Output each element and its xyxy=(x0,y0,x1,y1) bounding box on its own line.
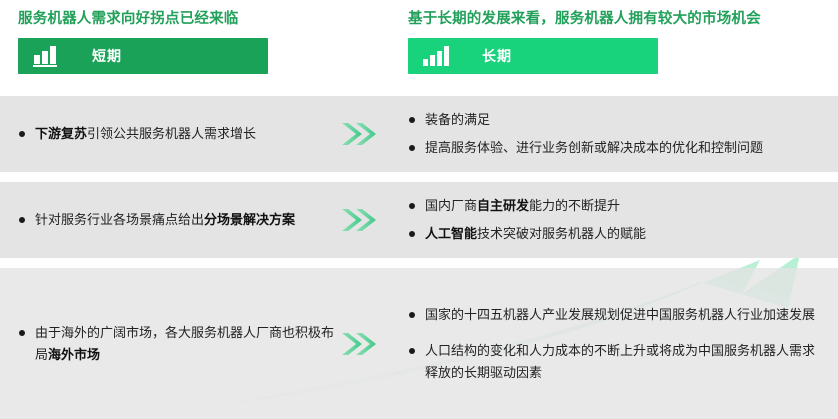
column-header-short: 服务机器人需求向好拐点已经来临 短期 xyxy=(18,0,390,74)
double-chevron-right-icon xyxy=(340,207,380,233)
row-left-cell: 由于海外的广阔市场，各大服务机器人厂商也积极布局海外市场 xyxy=(18,268,336,419)
double-chevron-right-icon xyxy=(340,331,380,357)
body-text: 人口结构的变化和人力成本的不断上升或将成为中国服务机器人需求释放的长期驱动因素 xyxy=(425,343,815,380)
emphasis-text: 下游复苏 xyxy=(35,126,87,141)
emphasis-text: 人工智能 xyxy=(425,226,477,241)
bar-chart-icon xyxy=(18,45,74,67)
body-text: 提高服务体验、进行业务创新或解决成本的优化和控制问题 xyxy=(425,140,763,155)
long-term-column-title: 基于长期的发展来看，服务机器人拥有较大的市场机会 xyxy=(408,10,828,28)
long-term-badge[interactable]: 长期 xyxy=(408,38,658,74)
long-term-badge-label: 长期 xyxy=(482,46,512,66)
row-right-cell: 国家的十四五机器人产业发展规划促进中国服务机器人行业加速发展人口结构的变化和人力… xyxy=(408,268,824,419)
short-term-badge[interactable]: 短期 xyxy=(18,38,268,74)
body-text: 装备的满足 xyxy=(425,112,490,127)
row-right-cell: 国内厂商自主研发能力的不断提升人工智能技术突破对服务机器人的赋能 xyxy=(408,182,824,258)
row-left-cell: 针对服务行业各场景痛点给出分场景解决方案 xyxy=(18,182,336,258)
emphasis-text: 分场景解决方案 xyxy=(204,212,295,227)
list-item: 国家的十四五机器人产业发展规划促进中国服务机器人行业加速发展 xyxy=(408,304,824,326)
list-item: 人口结构的变化和人力成本的不断上升或将成为中国服务机器人需求释放的长期驱动因素 xyxy=(408,340,824,384)
content-row: 由于海外的广阔市场，各大服务机器人厂商也积极布局海外市场 国家的十四五机器人产业… xyxy=(0,268,838,419)
body-text: 技术突破对服务机器人的赋能 xyxy=(477,226,646,241)
short-term-badge-label: 短期 xyxy=(92,46,122,66)
column-header-long: 基于长期的发展来看，服务机器人拥有较大的市场机会 长期 xyxy=(408,0,828,74)
list-item: 人工智能技术突破对服务机器人的赋能 xyxy=(408,223,824,245)
list-item: 装备的满足 xyxy=(408,109,824,131)
double-chevron-right-icon xyxy=(340,121,380,147)
header: 服务机器人需求向好拐点已经来临 短期 基于长期的发展来看，服务机器人拥有较大的市… xyxy=(0,0,838,88)
content-row: 下游复苏引领公共服务机器人需求增长 装备的满足提高服务体验、进行业务创新或解决成… xyxy=(0,96,838,172)
list-item: 由于海外的广阔市场，各大服务机器人厂商也积极布局海外市场 xyxy=(18,322,336,366)
body-text: 国家的十四五机器人产业发展规划促进中国服务机器人行业加速发展 xyxy=(425,307,815,322)
short-term-column-title: 服务机器人需求向好拐点已经来临 xyxy=(18,10,390,28)
body-text: 国内厂商 xyxy=(425,198,477,213)
emphasis-text: 海外市场 xyxy=(48,347,100,362)
body-text: 能力的不断提升 xyxy=(529,198,620,213)
list-item: 提高服务体验、进行业务创新或解决成本的优化和控制问题 xyxy=(408,137,824,159)
list-item: 针对服务行业各场景痛点给出分场景解决方案 xyxy=(18,209,336,231)
body-text: 针对服务行业各场景痛点给出 xyxy=(35,212,204,227)
row-left-cell: 下游复苏引领公共服务机器人需求增长 xyxy=(18,96,336,172)
list-item: 国内厂商自主研发能力的不断提升 xyxy=(408,195,824,217)
bar-chart-rising-icon xyxy=(408,45,464,67)
emphasis-text: 自主研发 xyxy=(477,198,529,213)
content-row: 针对服务行业各场景痛点给出分场景解决方案 国内厂商自主研发能力的不断提升人工智能… xyxy=(0,182,838,258)
body-text: 引领公共服务机器人需求增长 xyxy=(87,126,256,141)
list-item: 下游复苏引领公共服务机器人需求增长 xyxy=(18,123,336,145)
row-right-cell: 装备的满足提高服务体验、进行业务创新或解决成本的优化和控制问题 xyxy=(408,96,824,172)
